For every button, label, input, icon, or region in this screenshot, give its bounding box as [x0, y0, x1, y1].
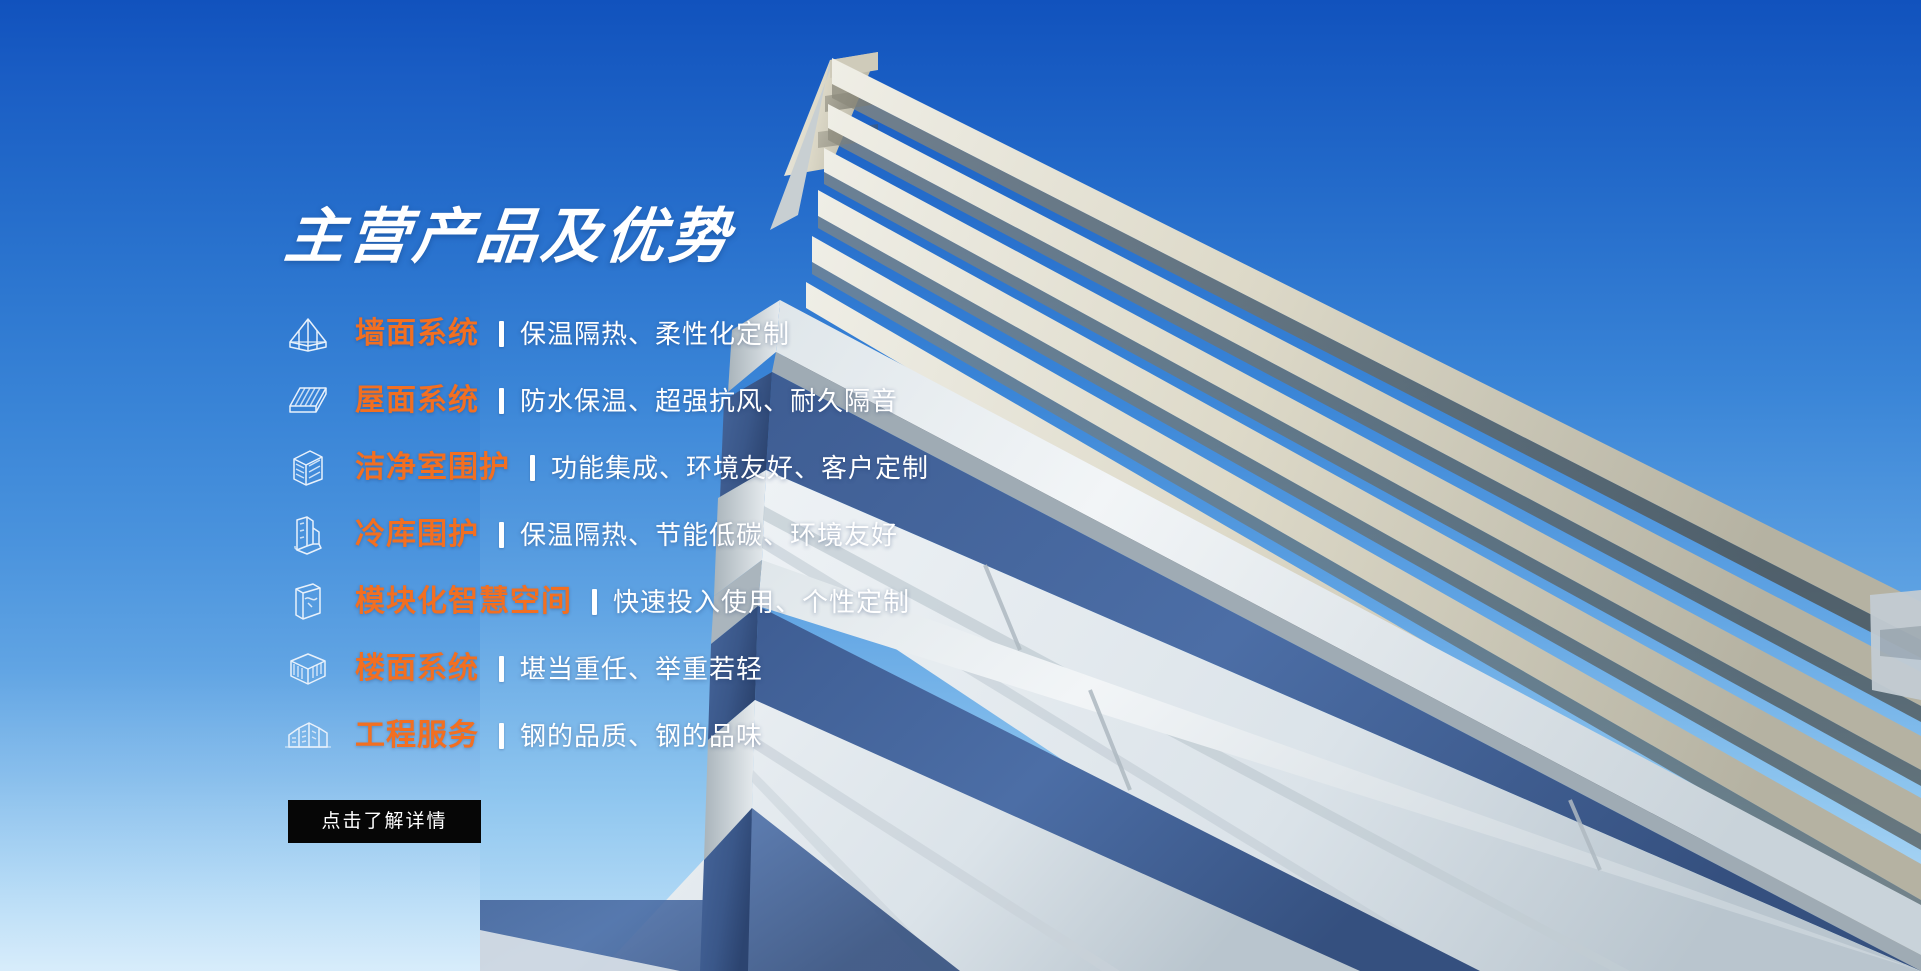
product-list: 墙面系统 保温隔热、柔性化定制 屋面系统 防水保温、超强抗风、耐久隔音	[285, 300, 1105, 769]
cleanroom-enclosure-icon	[285, 445, 331, 491]
product-separator	[499, 723, 504, 749]
engineering-service-icon	[285, 713, 331, 759]
product-description: 保温隔热、节能低碳、环境友好	[520, 522, 898, 548]
product-separator	[499, 388, 504, 414]
product-row-floor-system[interactable]: 楼面系统 堪当重任、举重若轻	[285, 635, 1105, 702]
product-separator	[499, 522, 504, 548]
wall-system-icon	[285, 311, 331, 357]
product-row-cold-storage-enclosure[interactable]: 冷库围护 保温隔热、节能低碳、环境友好	[285, 501, 1105, 568]
modular-smart-space-icon	[285, 579, 331, 625]
product-row-wall-system[interactable]: 墙面系统 保温隔热、柔性化定制	[285, 300, 1105, 367]
product-row-engineering-service[interactable]: 工程服务 钢的品质、钢的品味	[285, 702, 1105, 769]
product-description: 保温隔热、柔性化定制	[520, 321, 790, 347]
product-separator	[499, 656, 504, 682]
product-row-roof-system[interactable]: 屋面系统 防水保温、超强抗风、耐久隔音	[285, 367, 1105, 434]
learn-more-button[interactable]: 点击了解详情	[288, 800, 481, 843]
product-row-modular-smart-space[interactable]: 模块化智慧空间 快速投入使用、个性定制	[285, 568, 1105, 635]
cold-storage-enclosure-icon	[285, 512, 331, 558]
page-title: 主营产品及优势	[282, 207, 736, 267]
roof-system-icon	[285, 378, 331, 424]
floor-system-icon	[285, 646, 331, 692]
product-description: 防水保温、超强抗风、耐久隔音	[520, 388, 898, 414]
product-name: 冷库围护	[355, 520, 479, 550]
product-name: 洁净室围护	[355, 453, 510, 483]
product-separator	[499, 321, 504, 347]
product-name: 楼面系统	[355, 654, 479, 684]
product-separator	[592, 589, 597, 615]
product-description: 钢的品质、钢的品味	[520, 723, 763, 749]
product-row-cleanroom-enclosure[interactable]: 洁净室围护 功能集成、环境友好、客户定制	[285, 434, 1105, 501]
product-separator	[530, 455, 535, 481]
product-name: 墙面系统	[355, 319, 479, 349]
product-name: 模块化智慧空间	[355, 587, 572, 617]
hero-banner: 主营产品及优势 墙面系统 保温隔热、柔性化定制	[0, 0, 1921, 971]
product-name: 工程服务	[355, 721, 479, 751]
product-description: 功能集成、环境友好、客户定制	[551, 455, 929, 481]
product-description: 快速投入使用、个性定制	[613, 589, 910, 615]
product-description: 堪当重任、举重若轻	[520, 656, 763, 682]
product-name: 屋面系统	[355, 386, 479, 416]
